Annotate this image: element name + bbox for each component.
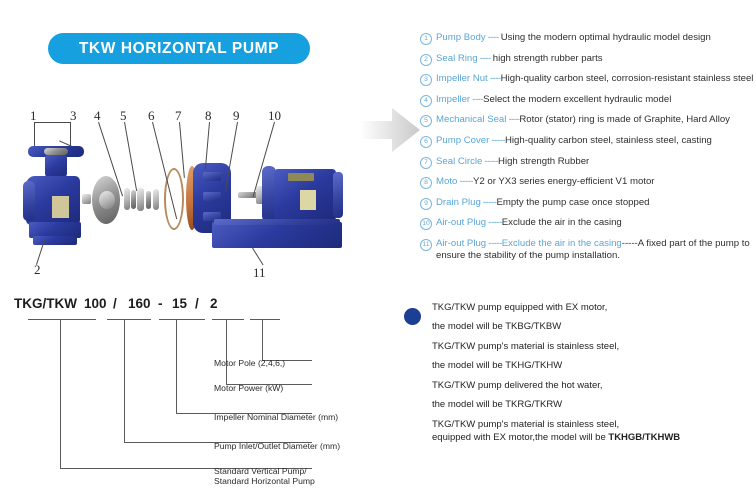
legend-description-3: High-quality carbon steel, corrosion-res…: [501, 73, 754, 84]
code-underline-1: [28, 319, 96, 320]
variant-line-text-0: TKG/TKW pump equipped with EX motor,: [432, 302, 607, 313]
model-code-token-4: -: [158, 296, 163, 311]
pump-body-suction-flange: [23, 181, 35, 221]
leader-line-1: [34, 122, 35, 146]
legend-part-name-1: Pump Body: [436, 32, 486, 43]
legend-number-circle-9: 9: [420, 198, 432, 210]
variant-line-group: TKG/TKW pump equipped with EX motor,the …: [404, 303, 756, 443]
legend-item-11: 11Air-out Plug -----Exclude the air in t…: [420, 238, 756, 262]
legend-item-4: 4Impeller ----Select the modern excellen…: [420, 94, 756, 107]
legend-item-2: 2Seal Ring ---- high strength rubber par…: [420, 53, 756, 66]
pump-body-foot: [33, 236, 77, 245]
variant-line-1: the model will be TKBG/TKBW: [432, 322, 756, 332]
legend-text-1: Pump Body ---- Using the modern optimal …: [436, 32, 756, 44]
legend-number-circle-11: 11: [420, 239, 432, 251]
legend-number-circle-8: 8: [420, 177, 432, 189]
legend-item-3: 3Impeller Nut ----High-quality carbon st…: [420, 73, 756, 86]
code-underline-5: [250, 319, 280, 320]
legend-part-name-8: Moto: [436, 176, 457, 187]
motor-nameplate: [300, 190, 316, 210]
callout-number-9: 9: [233, 108, 240, 124]
leader-line-1b: [34, 122, 70, 123]
legend-text-2: Seal Ring ---- high strength rubber part…: [436, 53, 756, 65]
model-variant-notes: TKG/TKW pump equipped with EX motor,the …: [404, 303, 756, 452]
legend-text-3: Impeller Nut ----High-quality carbon ste…: [436, 73, 756, 85]
legend-number-circle-5: 5: [420, 115, 432, 127]
drop-line-standard-pump: [60, 319, 61, 469]
legend-description-8: Y2 or YX3 series energy-efficient V1 mot…: [473, 176, 655, 187]
drop-line-motor-pole: [262, 319, 263, 361]
model-code-token-3: 160: [128, 296, 151, 311]
callout-number-4: 4: [94, 108, 101, 124]
callout-number-2: 2: [34, 262, 41, 278]
legend-number-circle-4: 4: [420, 95, 432, 107]
legend-part-name-4: Impeller: [436, 94, 470, 105]
leader-line-3: [70, 122, 71, 146]
pump-cover-rib-a: [203, 172, 221, 181]
variant-line-text-3: the model will be TKHG/TKHW: [432, 360, 562, 371]
legend-part-name-5: Mechanical Seal: [436, 114, 506, 125]
impeller-nut: [82, 194, 91, 204]
legend-part-name-9: Drain Plug: [436, 197, 481, 208]
nomenclature-label-2: Impeller Nominal Diameter (mm): [214, 412, 338, 424]
legend-part-name-11: Air-out Plug: [436, 238, 486, 249]
model-code-token-0: TKG/TKW: [14, 296, 77, 311]
legend-number-circle-10: 10: [420, 218, 432, 230]
nomenclature-label-0: Motor Pole (2,4,6,): [214, 358, 285, 370]
legend-part-name-10: Air-out Plug: [436, 217, 486, 228]
legend-number-circle-2: 2: [420, 54, 432, 66]
legend-item-10: 10Air-out Plug -----Exclude the air in t…: [420, 217, 756, 230]
motor-rear-cover: [333, 172, 343, 218]
legend-item-1: 1Pump Body ---- Using the modern optimal…: [420, 32, 756, 45]
mechanical-seal-ring-b: [131, 190, 136, 209]
legend-dash-2: ----: [478, 53, 493, 64]
variant-line-6: TKG/TKW pump's material is stainless ste…: [432, 420, 756, 430]
legend-item-7: 7Seal Circle -----High strength Rubber: [420, 156, 756, 169]
legend-description-4: Select the modern excellent hydraulic mo…: [483, 94, 671, 105]
mechanical-seal-ring-c: [137, 188, 144, 211]
callout-number-7: 7: [175, 108, 182, 124]
legend-dash-3: ----: [488, 73, 501, 84]
mechanical-seal-ring-e: [153, 189, 159, 210]
legend-part-name-3: Impeller Nut: [436, 73, 488, 84]
legend-item-9: 9Drain Plug -----Empty the pump case onc…: [420, 197, 756, 210]
impeller-hub: [99, 191, 115, 209]
variant-line-text-4: TKG/TKW pump delivered the hot water,: [432, 380, 603, 391]
variant-bullet-icon: [404, 308, 421, 325]
legend-description-6: High-quality carbon steel, stainless ste…: [505, 135, 712, 146]
callout-number-8: 8: [205, 108, 212, 124]
drop-line-motor-power: [226, 319, 227, 385]
variant-line-text-5: the model will be TKRG/TKRW: [432, 399, 562, 410]
nomenclature-label-1: Motor Power (kW): [214, 383, 283, 395]
callout-number-10: 10: [268, 108, 281, 124]
variant-line-text-7: equipped with EX motor,the model will be: [432, 432, 608, 443]
base-plate: [212, 222, 342, 248]
base-plate-top: [214, 219, 340, 225]
legend-item-8: 8Moto -----Y2 or YX3 series energy-effic…: [420, 176, 756, 189]
legend-description-2: high strength rubber parts: [493, 53, 603, 64]
legend-text-7: Seal Circle -----High strength Rubber: [436, 156, 756, 168]
parts-legend: 1Pump Body ---- Using the modern optimal…: [420, 32, 756, 270]
legend-dash-10: -----: [486, 217, 502, 228]
code-underline-4: [212, 319, 244, 320]
legend-number-circle-1: 1: [420, 33, 432, 45]
drop-line-impeller-dia: [176, 319, 177, 414]
variant-line-0: TKG/TKW pump equipped with EX motor,: [432, 303, 756, 313]
drop-line-inlet-dia: [124, 319, 125, 443]
legend-item-5: 5Mechanical Seal ----Rotor (stator) ring…: [420, 114, 756, 127]
legend-number-circle-3: 3: [420, 74, 432, 86]
variant-line-text-2: TKG/TKW pump's material is stainless ste…: [432, 341, 619, 352]
legend-text-9: Drain Plug -----Empty the pump case once…: [436, 197, 756, 209]
variant-line-text-6: TKG/TKW pump's material is stainless ste…: [432, 419, 619, 430]
callout-number-6: 6: [148, 108, 155, 124]
mechanical-seal-ring-a: [124, 188, 130, 210]
model-code-token-6: /: [195, 296, 199, 311]
legend-dash-8: -----: [457, 176, 473, 187]
nomenclature-label-5: Standard Horizontal Pump: [214, 476, 315, 488]
legend-part-name-7: Seal Circle: [436, 156, 482, 167]
flow-arrow-icon: [358, 103, 422, 157]
legend-text-4: Impeller ----Select the modern excellent…: [436, 94, 756, 106]
variant-line-5: the model will be TKRG/TKRW: [432, 400, 756, 410]
variant-line-2: TKG/TKW pump's material is stainless ste…: [432, 342, 756, 352]
legend-text-8: Moto -----Y2 or YX3 series energy-effici…: [436, 176, 756, 188]
legend-description-1: Using the modern optimal hydraulic model…: [501, 32, 711, 43]
pump-cover-rib-b: [203, 192, 221, 201]
code-underline-2: [107, 319, 151, 320]
legend-dash-1: ----: [486, 32, 501, 43]
variant-line-4: TKG/TKW pump delivered the hot water,: [432, 381, 756, 391]
legend-description-5: Rotor (stator) ring is made of Graphite,…: [519, 114, 730, 125]
model-code-token-2: /: [113, 296, 117, 311]
legend-dash-5: ----: [506, 114, 519, 125]
model-code-token-1: 100: [84, 296, 107, 311]
legend-number-circle-6: 6: [420, 136, 432, 148]
variant-line-7: equipped with EX motor,the model will be…: [432, 433, 756, 443]
legend-description-7: High strength Rubber: [498, 156, 589, 167]
legend-item-6: 6Pump Cover -----High-quality carbon ste…: [420, 135, 756, 148]
model-code-token-7: 2: [210, 296, 218, 311]
callout-number-11: 11: [253, 265, 266, 281]
variant-line-3: the model will be TKHG/TKHW: [432, 361, 756, 371]
code-underline-3: [159, 319, 205, 320]
legend-description-9: Empty the pump case once stopped: [496, 197, 649, 208]
nomenclature-label-3: Pump Inlet/Outlet Diameter (mm): [214, 441, 340, 453]
callout-number-1: 1: [30, 108, 37, 124]
model-code-token-5: 15: [172, 296, 187, 311]
legend-text-10: Air-out Plug -----Exclude the air in the…: [436, 217, 756, 229]
page-title: TKW HORIZONTAL PUMP: [79, 40, 279, 58]
legend-dash-7: -----: [482, 156, 498, 167]
legend-part-name-6: Pump Cover: [436, 135, 489, 146]
legend-text-6: Pump Cover -----High-quality carbon stee…: [436, 135, 756, 147]
variant-line-model-7: TKHGB/TKHWB: [608, 432, 680, 443]
legend-description-10: Exclude the air in the casing: [502, 217, 622, 228]
motor-terminal-box: [288, 173, 314, 181]
model-nomenclature: TKG/TKW100/160-15/2 Motor Pole (2,4,6,)M…: [14, 296, 414, 496]
legend-dash-9: -----: [481, 197, 497, 208]
legend-part-name-2: Seal Ring: [436, 53, 478, 64]
legend-text-11: Air-out Plug -----Exclude the air in the…: [436, 238, 756, 262]
legend-dash-6: -----: [489, 135, 505, 146]
legend-text-5: Mechanical Seal ----Rotor (stator) ring …: [436, 114, 756, 126]
callout-number-5: 5: [120, 108, 127, 124]
legend-description-11: Exclude the air in the casing: [502, 238, 622, 249]
legend-dash-11: -----: [486, 238, 502, 249]
legend-dash-4: ----: [470, 94, 483, 105]
page-title-badge: TKW HORIZONTAL PUMP: [48, 33, 310, 64]
mechanical-seal-ring-d: [146, 191, 151, 209]
legend-number-circle-7: 7: [420, 157, 432, 169]
pump-body-flange-face: [44, 148, 68, 155]
pump-body-nameplate: [52, 196, 69, 218]
variant-line-text-1: the model will be TKBG/TKBW: [432, 321, 561, 332]
callout-number-3: 3: [70, 108, 77, 124]
